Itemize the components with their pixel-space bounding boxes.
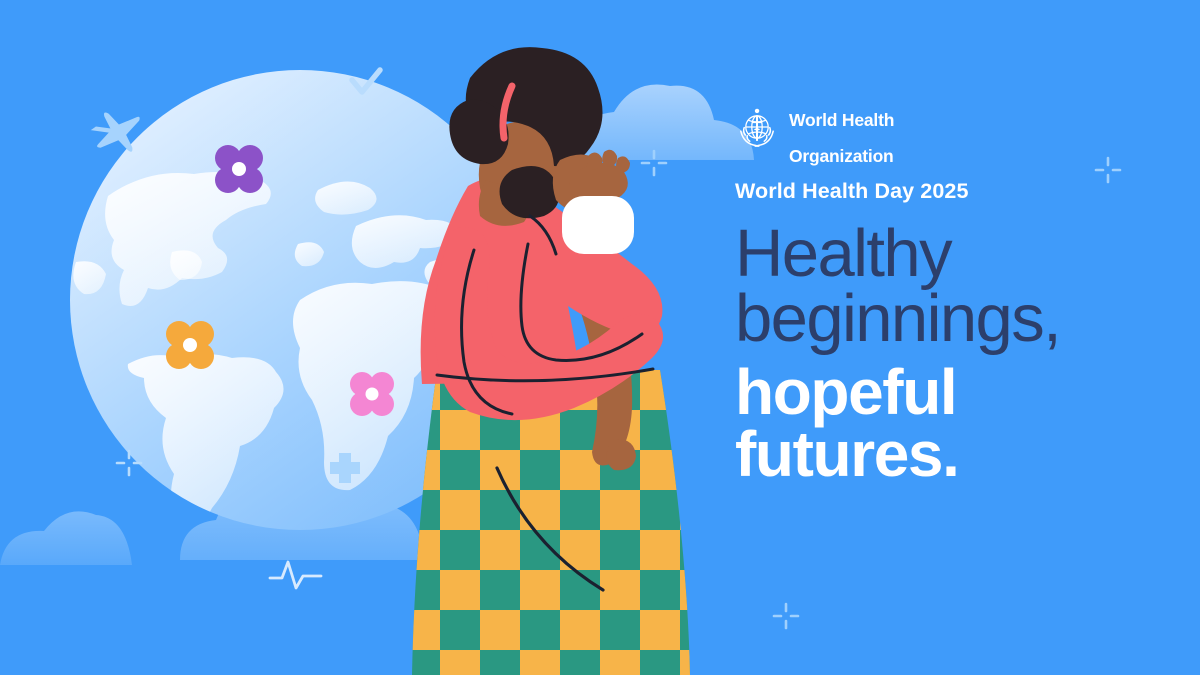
who-wordmark-line1: World Health xyxy=(789,110,894,130)
poster-text-block: World Health Organization World Health D… xyxy=(735,105,1185,485)
flower-marker-purple xyxy=(215,145,263,193)
headline-line-3: hopeful xyxy=(735,361,1185,423)
who-wordmark: World Health Organization xyxy=(789,92,894,166)
headline: Healthy beginnings, hopeful futures. xyxy=(735,221,1185,485)
who-emblem-icon xyxy=(735,107,779,151)
flower-marker-orange xyxy=(166,321,214,369)
headline-line-1: Healthy xyxy=(735,221,1185,286)
world-health-day-poster: World Health Organization World Health D… xyxy=(0,0,1200,675)
flower-marker-pink xyxy=(350,372,394,416)
headline-line-2: beginnings, xyxy=(735,286,1185,351)
event-label: World Health Day 2025 xyxy=(735,179,1185,204)
baby-blanket xyxy=(562,196,634,254)
headline-line-4: futures. xyxy=(735,423,1185,485)
who-logo-lockup[interactable]: World Health Organization xyxy=(735,105,1185,153)
who-wordmark-line2: Organization xyxy=(789,146,894,166)
